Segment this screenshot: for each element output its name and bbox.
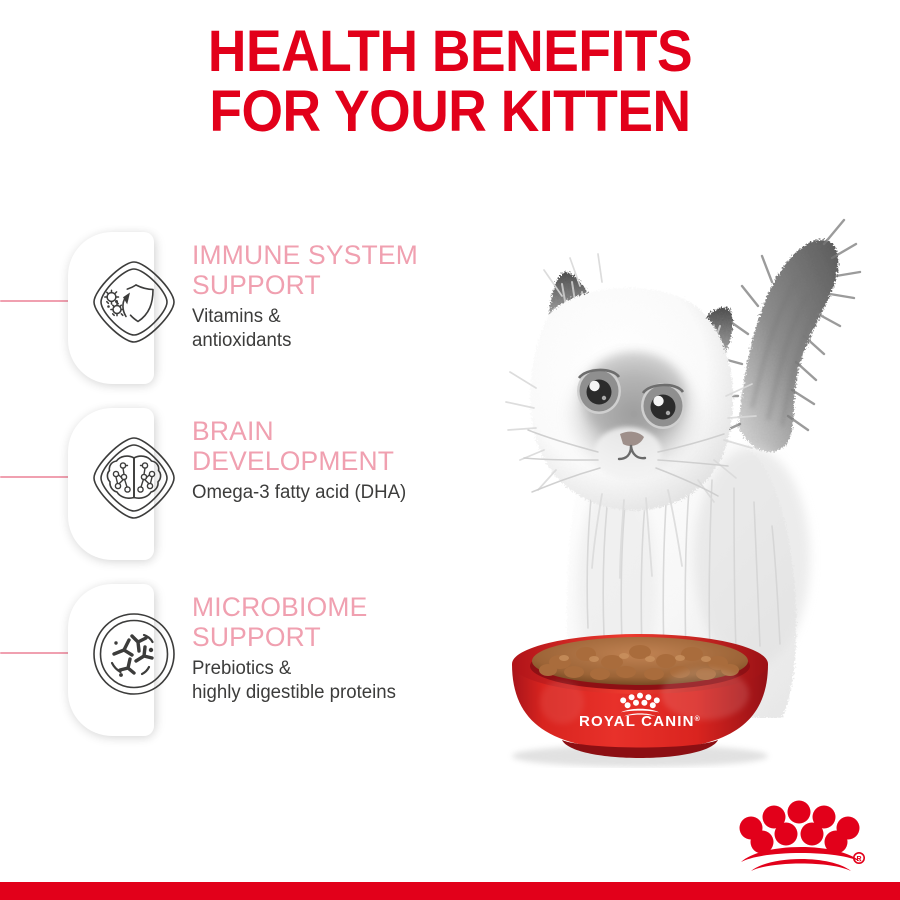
- microbiome-icon: [86, 606, 182, 702]
- bowl-wordmark: ROYAL CANIN®: [579, 713, 701, 730]
- benefits-list: IMMUNE SYSTEM SUPPORT Vitamins & antioxi…: [0, 232, 470, 760]
- svg-text:R: R: [856, 856, 861, 863]
- immune-shield-icon: [86, 254, 182, 350]
- page-title-line1: HEALTH BENEFITS: [208, 19, 692, 84]
- benefit-description: Vitamins & antioxidants: [192, 305, 466, 353]
- benefit-heading: IMMUNE SYSTEM SUPPORT: [192, 240, 466, 300]
- benefit-text-block: IMMUNE SYSTEM SUPPORT Vitamins & antioxi…: [192, 240, 472, 353]
- food-bowl: ROYAL CANIN®: [490, 628, 790, 768]
- benefit-heading: MICROBIOME SUPPORT: [192, 592, 466, 652]
- benefit-heading: BRAIN DEVELOPMENT: [192, 416, 466, 476]
- page-title: HEALTH BENEFITS FOR YOUR KITTEN: [36, 22, 864, 142]
- benefit-connector-line: [0, 476, 78, 478]
- benefit-item-brain-development: BRAIN DEVELOPMENT Omega-3 fatty acid (DH…: [0, 408, 470, 584]
- benefit-description: Omega-3 fatty acid (DHA): [192, 481, 466, 505]
- benefit-text-block: BRAIN DEVELOPMENT Omega-3 fatty acid (DH…: [192, 416, 472, 505]
- benefit-item-immune-system: IMMUNE SYSTEM SUPPORT Vitamins & antioxi…: [0, 232, 470, 408]
- benefit-text-block: MICROBIOME SUPPORT Prebiotics & highly d…: [192, 592, 472, 705]
- benefit-item-microbiome-support: MICROBIOME SUPPORT Prebiotics & highly d…: [0, 584, 470, 760]
- royal-canin-crown-logo: R: [735, 792, 867, 872]
- benefit-description: Prebiotics & highly digestible proteins: [192, 657, 466, 705]
- benefit-connector-line: [0, 300, 78, 302]
- promo-canvas: HEALTH BENEFITS FOR YOUR KITTEN: [0, 0, 900, 900]
- bottom-red-bar: [0, 882, 900, 900]
- page-title-line2: FOR YOUR KITTEN: [36, 82, 864, 142]
- brain-icon: [86, 430, 182, 526]
- benefit-connector-line: [0, 652, 78, 654]
